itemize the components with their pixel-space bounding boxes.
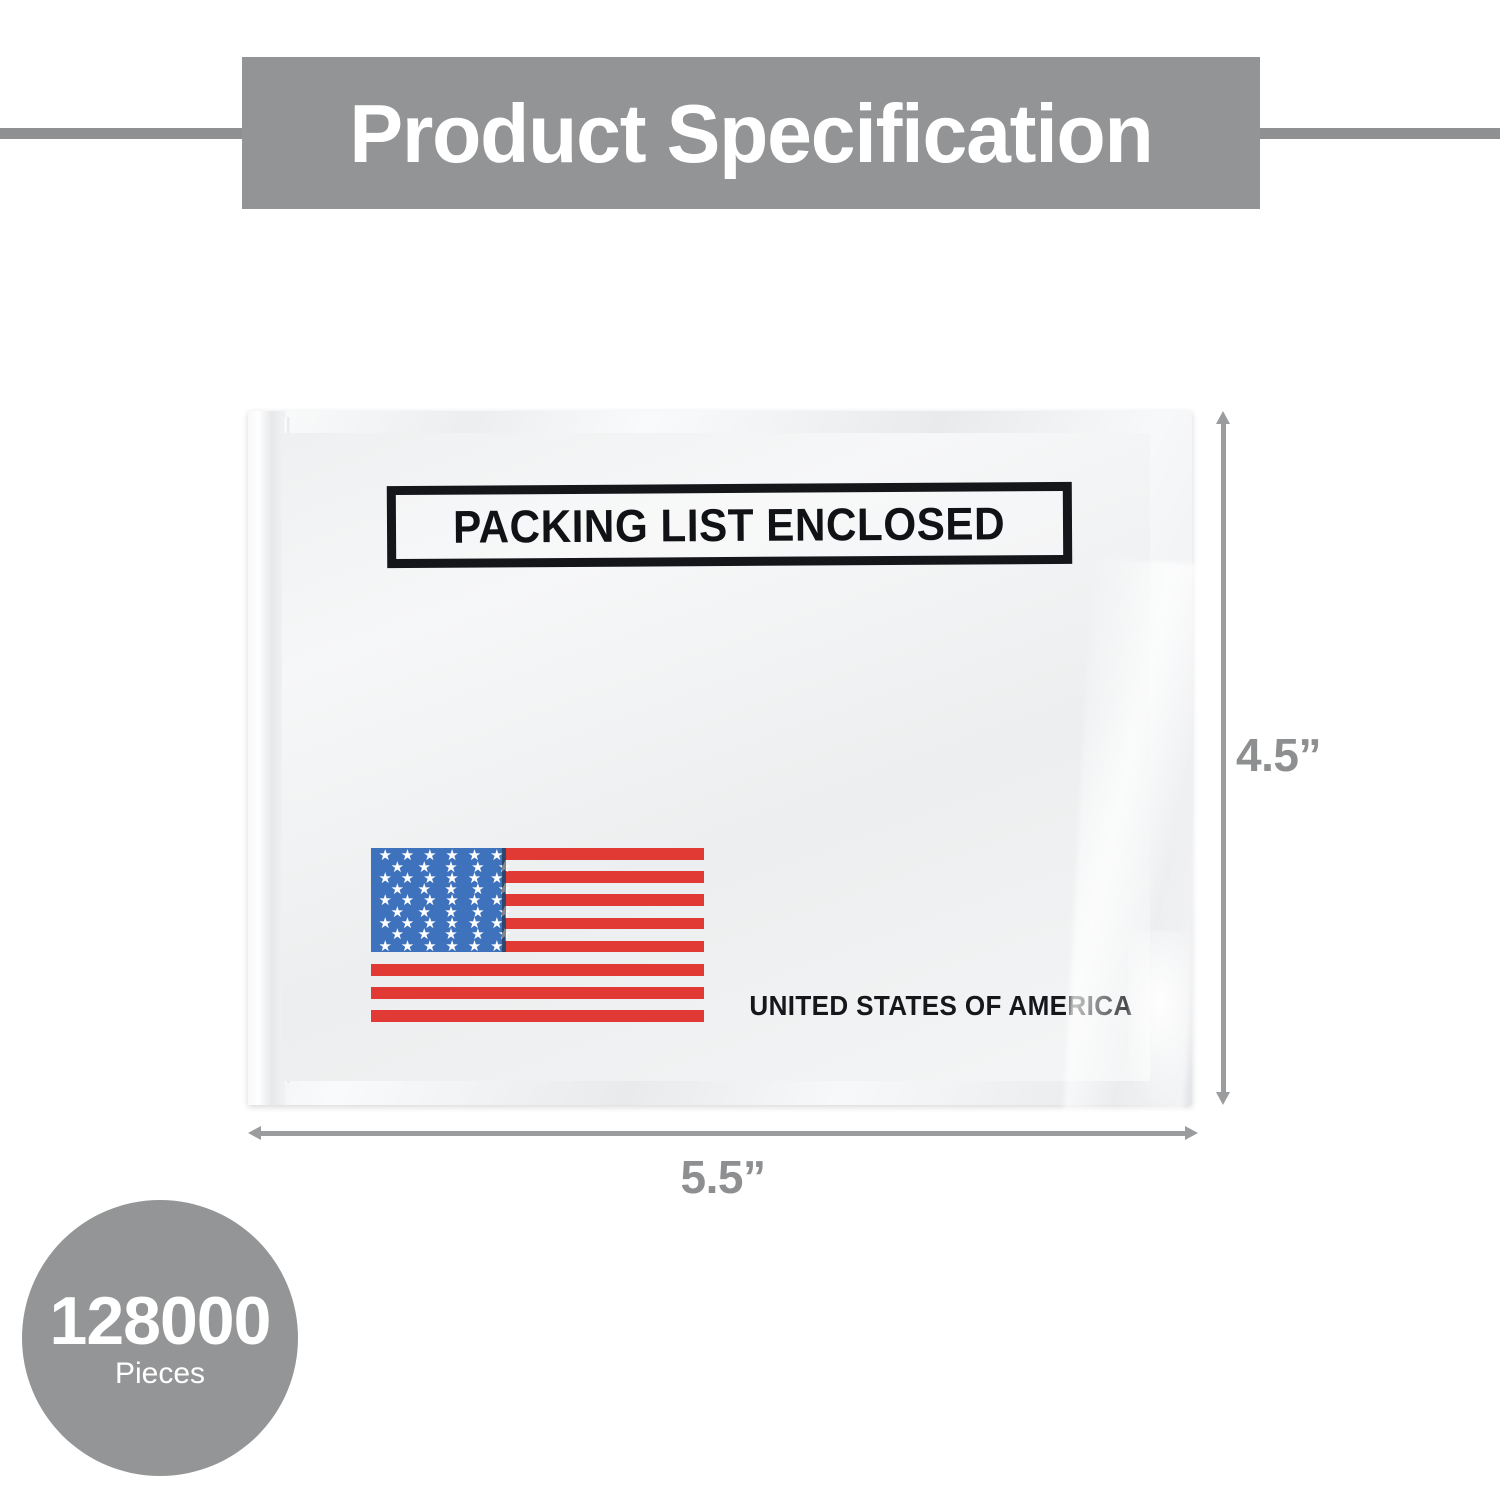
envelope-left-seal xyxy=(248,411,286,1105)
flag-stripe xyxy=(371,964,704,976)
star-icon: ★ xyxy=(423,939,436,954)
united-states-flag-icon: ★★★★★★ ★★★★★ ★★★★★★ ★★★★★ ★★★★★★ ★★★★★ ★… xyxy=(371,848,704,1023)
header-rule-right xyxy=(1258,128,1500,139)
flag-star-row: ★★★★★★ xyxy=(371,940,511,952)
dimension-width-label: 5.5” xyxy=(0,1150,1446,1204)
arrowhead-right-icon xyxy=(1185,1126,1198,1140)
flag-stripe xyxy=(371,1010,704,1022)
flag-canton: ★★★★★★ ★★★★★ ★★★★★★ ★★★★★ ★★★★★★ ★★★★★ ★… xyxy=(371,848,505,952)
quantity-value: 128000 xyxy=(50,1287,271,1355)
star-icon: ★ xyxy=(468,939,481,954)
dimension-arrow-height xyxy=(1216,411,1230,1105)
dimension-arrow-width xyxy=(248,1126,1198,1140)
header-banner: Product Specification xyxy=(0,57,1500,209)
envelope-gloss-spot xyxy=(1128,931,1208,1111)
dimension-height-label: 4.5” xyxy=(1236,728,1321,782)
header-rule-left xyxy=(0,128,248,139)
arrow-shaft xyxy=(1221,420,1226,1096)
envelope-label-face: PACKING LIST ENCLOSED ★★★★★★ ★★★★★ ★★★★★… xyxy=(282,433,1150,1081)
product-photo: PACKING LIST ENCLOSED ★★★★★★ ★★★★★ ★★★★★… xyxy=(248,411,1192,1105)
packing-list-stamp: PACKING LIST ENCLOSED xyxy=(387,482,1072,568)
star-icon: ★ xyxy=(378,939,391,954)
envelope-plastic-sleeve: PACKING LIST ENCLOSED ★★★★★★ ★★★★★ ★★★★★… xyxy=(248,411,1192,1105)
flag-canton-edge xyxy=(502,848,506,952)
header-title-box: Product Specification xyxy=(242,57,1260,209)
star-icon: ★ xyxy=(401,939,414,954)
packing-list-stamp-text: PACKING LIST ENCLOSED xyxy=(453,496,1005,553)
quantity-unit: Pieces xyxy=(115,1359,205,1389)
page-title: Product Specification xyxy=(257,57,1244,209)
arrowhead-down-icon xyxy=(1216,1092,1230,1105)
star-icon: ★ xyxy=(445,939,458,954)
quantity-badge: 128000 Pieces xyxy=(22,1200,298,1476)
arrow-shaft xyxy=(257,1131,1189,1136)
flag-stripe xyxy=(371,987,704,999)
